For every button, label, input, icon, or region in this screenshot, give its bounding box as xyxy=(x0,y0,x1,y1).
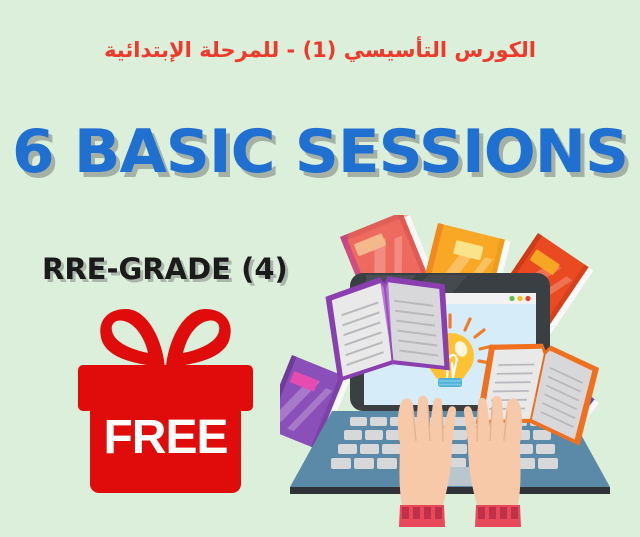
window-dot-yellow xyxy=(517,296,522,301)
free-label: FREE xyxy=(90,414,241,462)
window-dot-red xyxy=(525,296,530,301)
right-hand xyxy=(464,396,522,527)
laptop-books-illustration xyxy=(280,215,640,537)
window-dot-green xyxy=(509,296,514,301)
gift-lid xyxy=(78,365,253,411)
poster-canvas: الكورس التأسيسي (1) - للمرحلة الإبتدائية… xyxy=(0,0,640,537)
free-gift-badge: FREE xyxy=(78,307,253,493)
left-hand xyxy=(398,396,456,527)
page-title: 6 BASIC SESSIONS xyxy=(0,122,640,182)
arabic-course-title: الكورس التأسيسي (1) - للمرحلة الإبتدائية xyxy=(0,38,640,62)
grade-subtitle: RRE-GRADE (4) xyxy=(42,252,288,286)
gift-bow-icon xyxy=(88,307,243,369)
lightbulb-base xyxy=(438,378,462,387)
